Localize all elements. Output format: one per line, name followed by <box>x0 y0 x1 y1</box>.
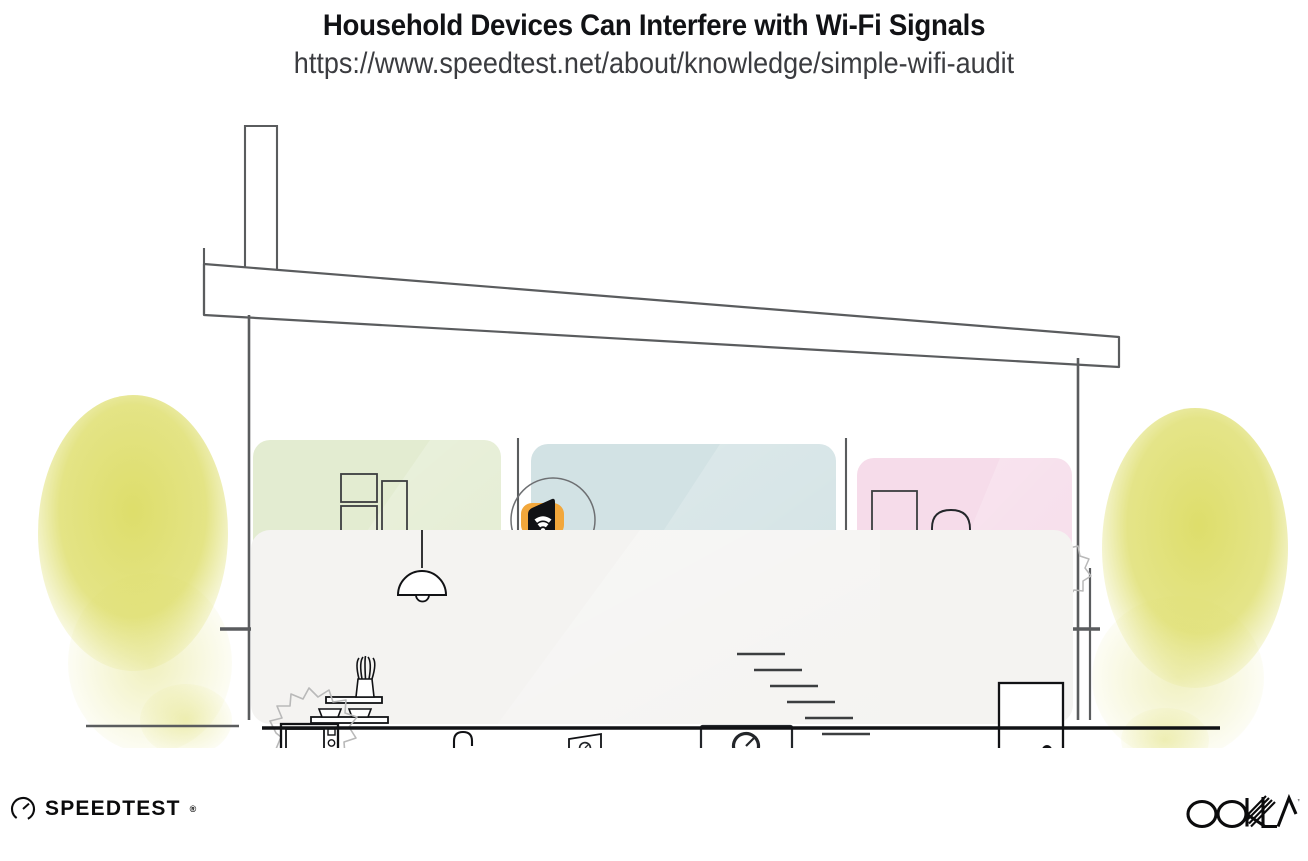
foliage-right <box>1092 408 1288 748</box>
speedometer-icon <box>10 796 36 822</box>
foliage-left <box>38 395 232 748</box>
kitchen-sink <box>454 732 472 748</box>
source-url: https://www.speedtest.net/about/knowledg… <box>65 46 1242 82</box>
page-root: Household Devices Can Interfere with Wi-… <box>0 0 1308 861</box>
page-title: Household Devices Can Interfere with Wi-… <box>52 8 1255 44</box>
ground-floor: SPEEDTEST SPEEDTEST <box>251 530 1073 748</box>
ookla-wordmark <box>1188 802 1246 827</box>
sloped-roof-slab <box>204 248 1119 367</box>
header: Household Devices Can Interfere with Wi-… <box>0 0 1308 82</box>
ookla-trademark: ™ <box>1297 798 1300 805</box>
ookla-a <box>1278 798 1296 827</box>
speedtest-trademark: ® <box>190 804 197 814</box>
speedtest-wordmark: SPEEDTEST <box>45 797 181 821</box>
house-illustration: SPEEDTEST <box>0 108 1308 748</box>
chimney <box>245 126 277 276</box>
speedtest-logo[interactable]: SPEEDTEST ® <box>10 796 196 822</box>
front-door[interactable] <box>999 683 1063 748</box>
ookla-logo[interactable]: ™ <box>1185 794 1300 835</box>
laptop[interactable]: SPEEDTEST <box>563 734 608 748</box>
footer: SPEEDTEST ® ™ <box>0 780 1308 850</box>
